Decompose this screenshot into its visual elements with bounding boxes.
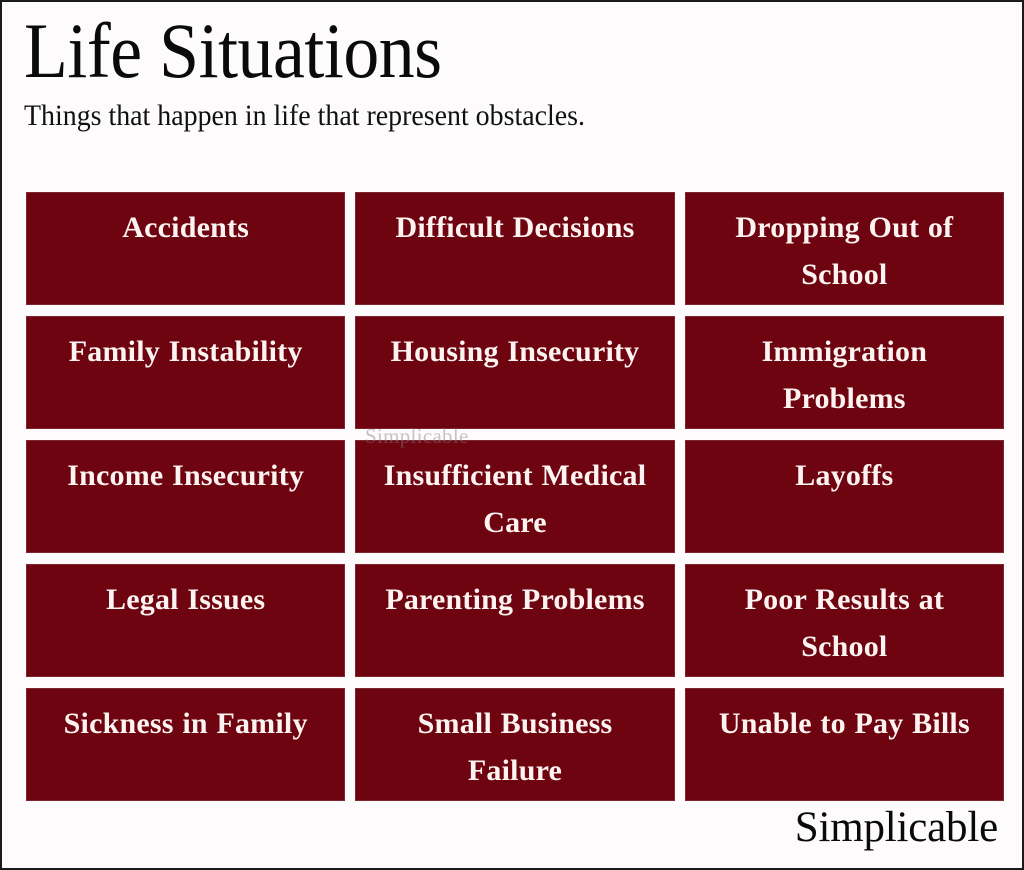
life-situations-grid: Accidents Difficult Decisions Dropping O… [26,192,1004,801]
infographic-page: Life Situations Things that happen in li… [0,0,1024,870]
header: Life Situations Things that happen in li… [24,14,1004,132]
grid-cell[interactable]: Immigration Problems [685,316,1004,429]
grid-cell-label: Difficult Decisions [370,205,659,252]
grid-cell-label: Housing Insecurity [370,329,659,376]
page-subtitle: Things that happen in life that represen… [24,100,935,132]
grid-cell[interactable]: Dropping Out of School [685,192,1004,305]
grid-cell-label: Legal Issues [41,577,330,624]
grid-cell-label: Small Business Failure [370,701,659,794]
grid-cell[interactable]: Unable to Pay Bills [685,688,1004,801]
grid-cell-label: Unable to Pay Bills [700,701,989,748]
grid-cell-label: Sickness in Family [41,701,330,748]
page-title: Life Situations [24,14,926,88]
grid-cell-label: Layoffs [700,453,989,500]
grid-cell-label: Income Insecurity [41,453,330,500]
grid-cell[interactable]: Income Insecurity [26,440,345,553]
grid-cell-label: Insufficient Medical Care [370,453,659,546]
grid-cell[interactable]: Parenting Problems [355,564,674,677]
grid-cell[interactable]: Family Instability [26,316,345,429]
grid-cell[interactable]: Layoffs [685,440,1004,553]
grid-cell[interactable]: Poor Results at School [685,564,1004,677]
grid-cell[interactable]: Accidents [26,192,345,305]
grid-cell[interactable]: Insufficient Medical Care [355,440,674,553]
grid-cell-label: Accidents [41,205,330,252]
grid-cell-label: Family Instability [41,329,330,376]
grid-cell-label: Poor Results at School [700,577,989,670]
grid-cell[interactable]: Small Business Failure [355,688,674,801]
grid-cell-label: Dropping Out of School [700,205,989,298]
grid-cell-label: Immigration Problems [700,329,989,422]
grid-cell[interactable]: Housing Insecurity [355,316,674,429]
grid-cell-label: Parenting Problems [370,577,659,624]
grid-cell[interactable]: Sickness in Family [26,688,345,801]
grid-cell[interactable]: Difficult Decisions [355,192,674,305]
grid-cell[interactable]: Legal Issues [26,564,345,677]
brand-logo: Simplicable [795,803,998,852]
